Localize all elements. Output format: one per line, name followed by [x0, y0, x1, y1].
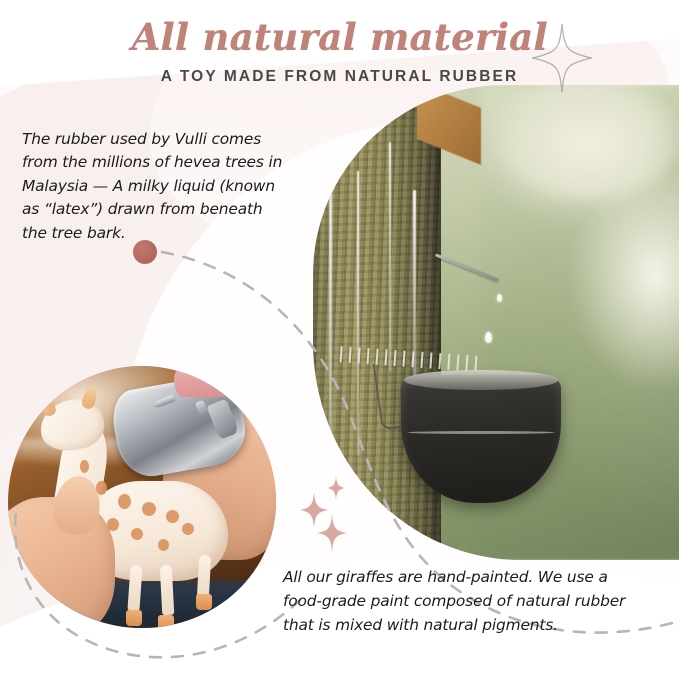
latex-streak [329, 133, 332, 475]
giraffe-leg [159, 565, 174, 616]
paragraph-top: The rubber used by Vulli comes from the … [22, 128, 290, 245]
spray-gun-grip [206, 398, 238, 439]
rubber-tree-tapping-photo [313, 85, 679, 560]
giraffe-hoof [196, 594, 212, 610]
tree-photo-image [313, 85, 679, 560]
paint-cup [174, 366, 233, 397]
giraffe-hoof [158, 615, 174, 628]
latex-droplet [485, 332, 492, 343]
poster-canvas: All natural material A TOY MADE FROM NAT… [0, 0, 679, 679]
latex-droplet [497, 294, 502, 302]
four-point-star-filled-icon [317, 514, 347, 552]
giraffe-handpainting-photo [8, 366, 276, 628]
tree-canopy-highlight [497, 85, 679, 199]
four-point-star-filled-icon [300, 492, 328, 528]
paragraph-bottom: All our giraffes are hand-painted. We us… [283, 565, 643, 637]
latex-streak [357, 171, 359, 456]
four-point-star-filled-icon [327, 476, 345, 500]
four-point-star-outline-icon [530, 22, 594, 94]
spray-gun-nozzle [153, 394, 177, 409]
giraffe-hoof [126, 610, 142, 626]
giraffe-spot [158, 539, 169, 551]
four-point-star-filled-group [286, 470, 366, 560]
latex-streak [389, 142, 391, 370]
